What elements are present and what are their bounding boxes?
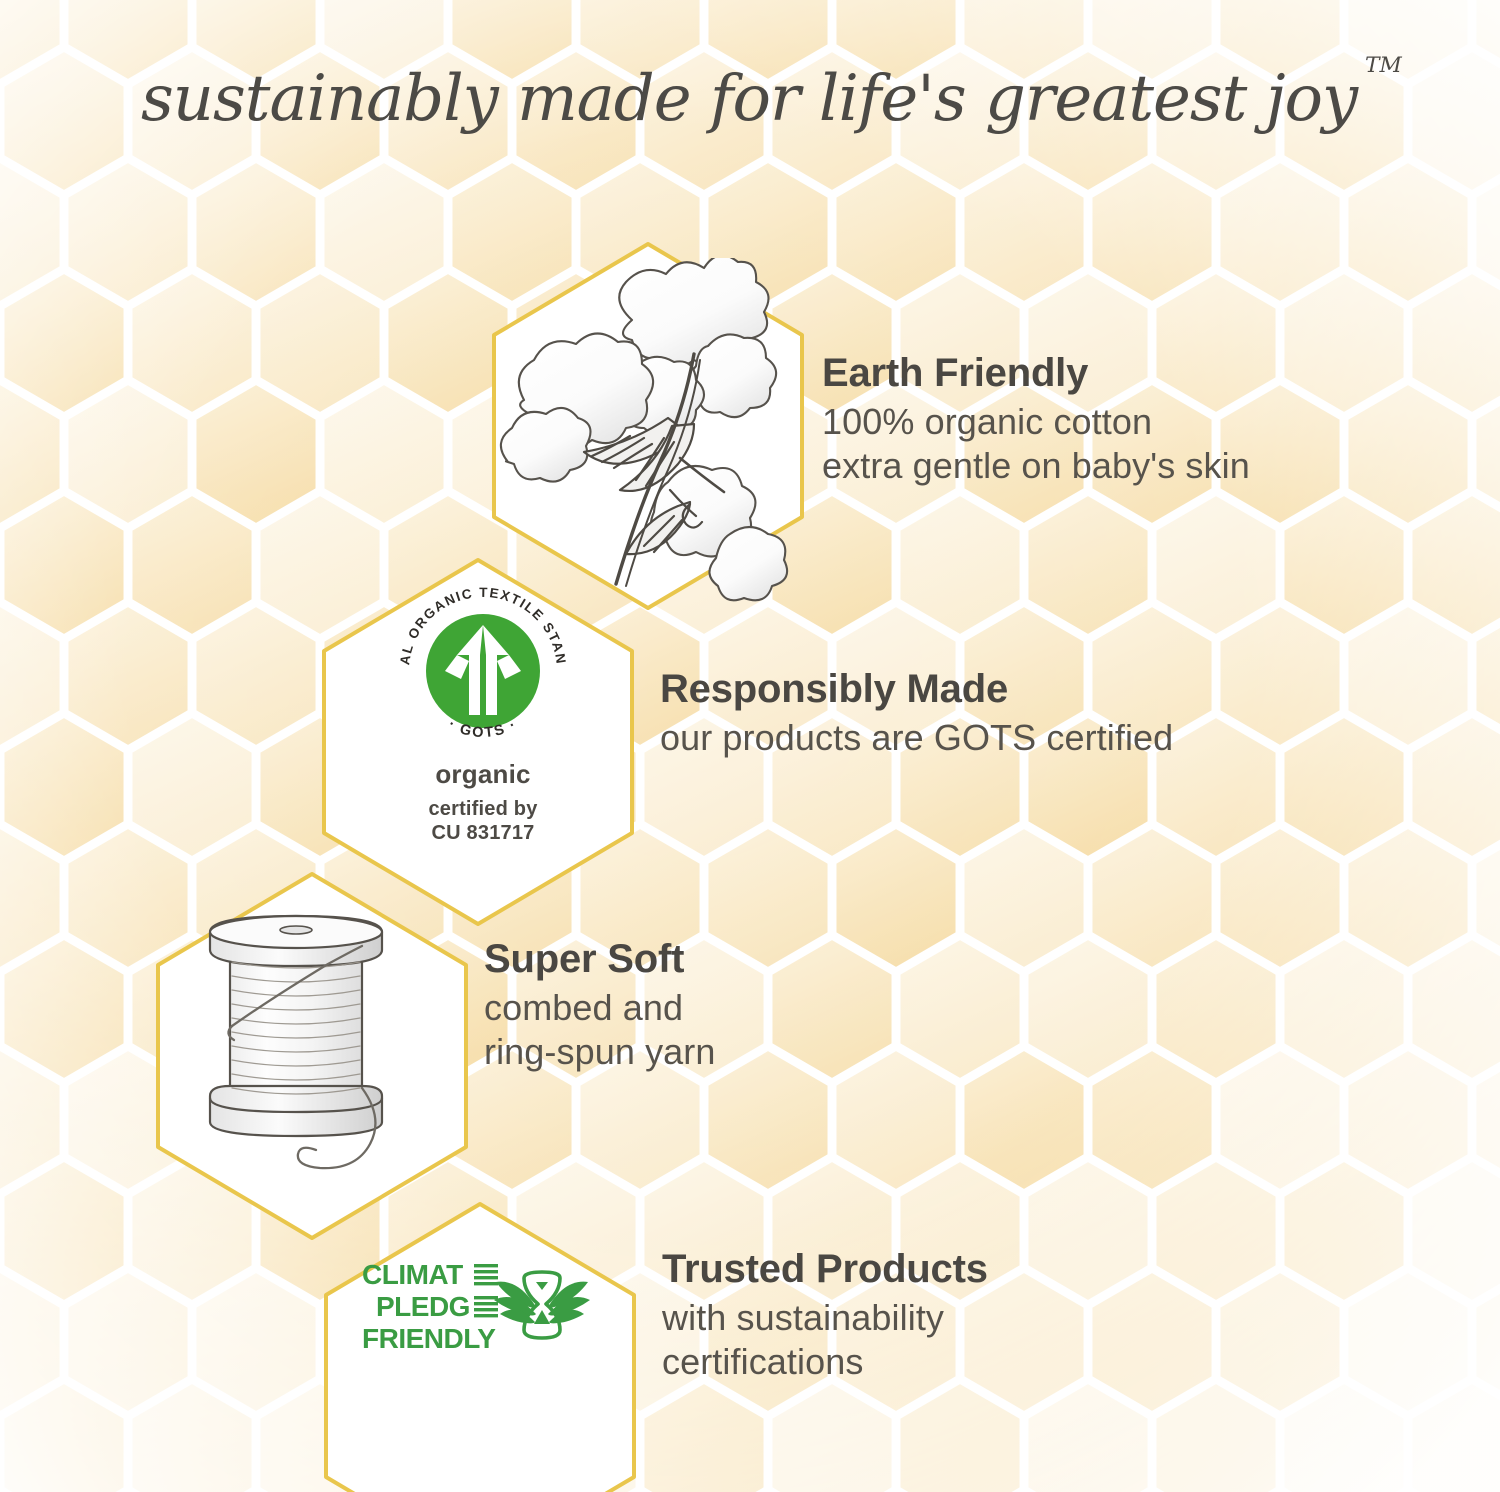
feature-title-super-soft: Super Soft xyxy=(484,938,716,980)
gots-green-circle xyxy=(426,614,540,728)
thread-spool-illustration xyxy=(196,892,446,1187)
headline-script-text: sustainably made for life's greatest joy… xyxy=(90,38,1410,150)
gots-certifier-code: CU 831717 xyxy=(383,822,583,845)
gots-organic-label: organic xyxy=(383,759,583,790)
cotton-branch-illustration xyxy=(472,258,844,615)
cpf-bar-e-glyphs xyxy=(474,1264,498,1317)
gots-seal-icon: GLOBAL ORGANIC TEXTILE STANDARD · GOTS · xyxy=(383,575,583,750)
feature-title-trusted-products: Trusted Products xyxy=(662,1248,988,1290)
feature-line: extra gentle on baby's skin xyxy=(822,444,1250,488)
cpf-line-1: CLIMAT xyxy=(362,1259,463,1290)
feature-text-super-soft: Super Soft combed and ring-spun yarn xyxy=(484,938,716,1074)
feature-line: our products are GOTS certified xyxy=(660,716,1173,760)
feature-line: certifications xyxy=(662,1340,988,1384)
feature-text-trusted-products: Trusted Products with sustainability cer… xyxy=(662,1248,988,1384)
cpf-wing-right xyxy=(548,1282,590,1324)
headline-label: sustainably made for life's greatest joy xyxy=(141,62,1359,136)
gots-certification-badge: GLOBAL ORGANIC TEXTILE STANDARD · GOTS ·… xyxy=(383,575,583,845)
headline: sustainably made for life's greatest joy… xyxy=(0,38,1500,158)
feature-text-responsibly-made: Responsibly Made our products are GOTS c… xyxy=(660,668,1173,760)
cpf-line-2: PLEDG xyxy=(376,1291,470,1322)
cpf-wing-left xyxy=(494,1282,536,1324)
feature-title-responsibly-made: Responsibly Made xyxy=(660,668,1173,710)
feature-line: combed and xyxy=(484,986,716,1030)
cpf-line-3: FRIENDLY xyxy=(362,1323,496,1354)
trademark-symbol: TM xyxy=(1365,53,1402,78)
infographic-canvas: sustainably made for life's greatest joy… xyxy=(0,0,1500,1492)
feature-line: ring-spun yarn xyxy=(484,1030,716,1074)
winged-hourglass-icon xyxy=(494,1272,590,1338)
feature-text-earth-friendly: Earth Friendly 100% organic cotton extra… xyxy=(822,352,1250,488)
feature-title-earth-friendly: Earth Friendly xyxy=(822,352,1250,394)
gots-certified-by-label: certified by xyxy=(383,798,583,821)
climate-pledge-friendly-badge: CLIMAT PLEDG FRIENDLY xyxy=(362,1258,612,1363)
feature-line: 100% organic cotton xyxy=(822,400,1250,444)
feature-line: with sustainability xyxy=(662,1296,988,1340)
